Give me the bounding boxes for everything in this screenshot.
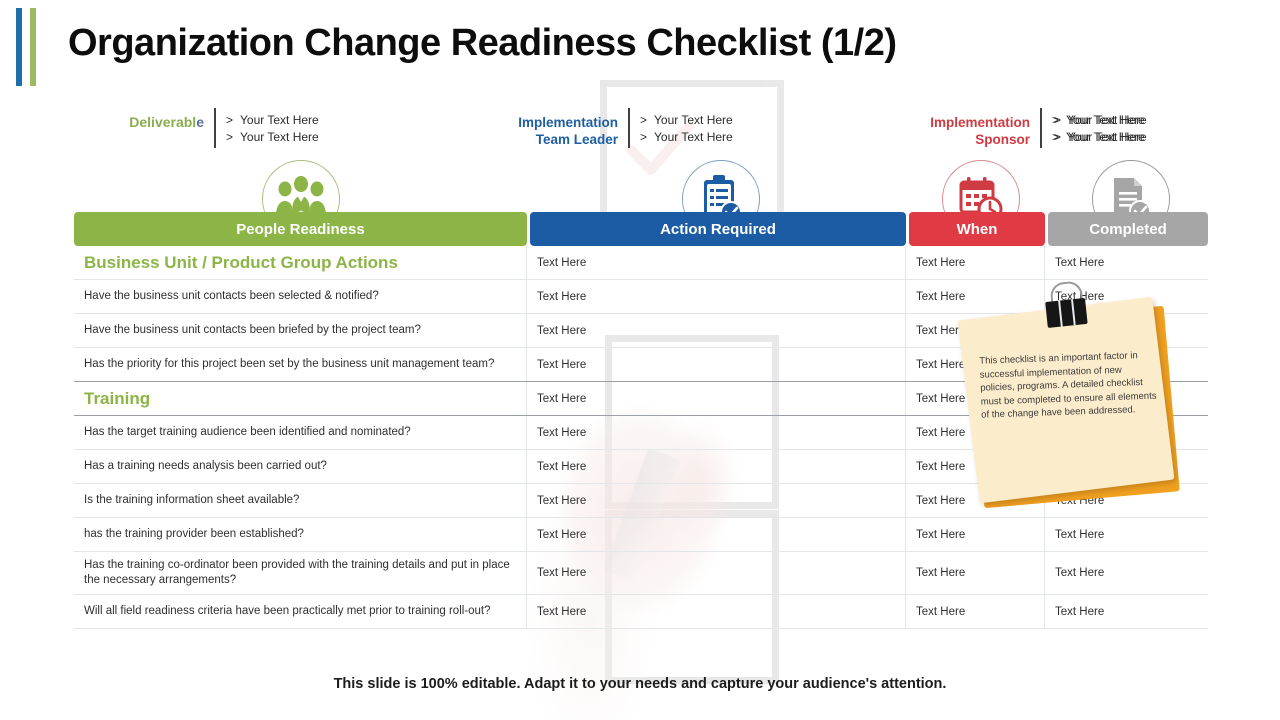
table-row: Has the training co-ordinator been provi… xyxy=(74,552,1208,595)
cell-completed[interactable]: Text Here xyxy=(1045,518,1208,551)
cell-action-required[interactable]: Text Here xyxy=(527,518,906,551)
row-question: Has the training co-ordinator been provi… xyxy=(74,552,527,594)
table-section-row: Business Unit / Product Group ActionsTex… xyxy=(74,246,1208,280)
bullet-text: Your Text Here xyxy=(1068,113,1147,127)
cell-when[interactable]: Text Here xyxy=(906,595,1045,628)
bullet-item: >Your Text Here xyxy=(1054,129,1147,146)
role-block-team-leader: Implementation Team Leader >Your Text He… xyxy=(470,108,733,148)
row-question: Will all field readiness criteria have b… xyxy=(74,595,527,628)
role-title-deliverable-tail: e xyxy=(196,114,204,130)
cell-when[interactable]: Text Here xyxy=(906,246,1045,279)
cell-action-required[interactable]: Text Here xyxy=(527,246,906,279)
bullet-marker: > xyxy=(226,112,240,129)
table-row: has the training provider been establish… xyxy=(74,518,1208,552)
cell-action-required[interactable]: Text Here xyxy=(527,280,906,313)
role-block-deliverable: Deliverable >Your Text Here >Your Text H… xyxy=(108,108,319,148)
bullet-item: >Your Text Here xyxy=(640,129,733,146)
cell-completed[interactable]: Text Here xyxy=(1045,246,1208,279)
role-title-deliverable: Deliverable xyxy=(108,108,204,131)
accent-bar-green xyxy=(30,8,36,86)
row-question: Has the target training audience been id… xyxy=(74,416,527,449)
cell-action-required[interactable]: Text Here xyxy=(527,416,906,449)
binder-clip-body xyxy=(1045,298,1087,328)
cell-when[interactable]: Text Here xyxy=(906,518,1045,551)
role-bullets-deliverable: >Your Text Here >Your Text Here xyxy=(226,108,319,146)
role-bullets-team-leader: >Your Text Here >Your Text Here xyxy=(640,108,733,146)
table-row: Will all field readiness criteria have b… xyxy=(74,595,1208,629)
role-title-team-leader: Implementation Team Leader xyxy=(470,108,618,148)
sticky-note-paper: This checklist is an important factor in… xyxy=(958,297,1175,504)
bullet-text: Your Text Here xyxy=(654,130,733,144)
footer-note: This slide is 100% editable. Adapt it to… xyxy=(0,676,1280,692)
role-divider-deliverable xyxy=(214,108,216,148)
cell-action-required[interactable]: Text Here xyxy=(527,314,906,347)
cell-action-required[interactable]: Text Here xyxy=(527,348,906,381)
cell-action-required[interactable]: Text Here xyxy=(527,552,906,594)
bullet-marker: > xyxy=(640,129,654,146)
row-question: Have the business unit contacts been bri… xyxy=(74,314,527,347)
slide-canvas: Organization Change Readiness Checklist … xyxy=(0,0,1280,720)
section-label: Business Unit / Product Group Actions xyxy=(74,246,527,279)
column-header-people-readiness: People Readiness xyxy=(74,212,527,246)
table-header-row: People Readiness Action Required When Co… xyxy=(74,212,1208,246)
cell-action-required[interactable]: Text Here xyxy=(527,382,906,415)
row-question: Have the business unit contacts been sel… xyxy=(74,280,527,313)
column-header-when: When xyxy=(909,212,1045,246)
bullet-text: Your Text Here xyxy=(654,113,733,127)
role-divider-team-leader xyxy=(628,108,630,148)
binder-clip-icon xyxy=(1036,289,1095,329)
row-question: has the training provider been establish… xyxy=(74,518,527,551)
column-header-completed: Completed xyxy=(1048,212,1208,246)
role-block-completed: >Your Text Here >Your Text Here xyxy=(1040,108,1147,146)
cell-completed[interactable]: Text Here xyxy=(1045,595,1208,628)
page-title: Organization Change Readiness Checklist … xyxy=(68,16,1218,70)
bullet-item: >Your Text Here xyxy=(1054,112,1147,129)
role-title-line2: Sponsor xyxy=(880,131,1030,148)
role-title-sponsor: Implementation Sponsor xyxy=(880,108,1030,148)
cell-completed[interactable]: Text Here xyxy=(1045,552,1208,594)
accent-bar-blue xyxy=(16,8,22,86)
section-label: Training xyxy=(74,382,527,415)
row-question: Has the priority for this project been s… xyxy=(74,348,527,381)
bullet-text: Your Text Here xyxy=(1068,130,1147,144)
bullet-marker: > xyxy=(640,112,654,129)
sticky-note-text: This checklist is an important factor in… xyxy=(979,349,1157,423)
role-title-line2: Team Leader xyxy=(470,131,618,148)
cell-action-required[interactable]: Text Here xyxy=(527,484,906,517)
role-title-deliverable-main: Deliverabl xyxy=(129,114,196,130)
row-question: Is the training information sheet availa… xyxy=(74,484,527,517)
bullet-text: Your Text Here xyxy=(240,130,319,144)
cell-when[interactable]: Text Here xyxy=(906,552,1045,594)
bullet-marker: > xyxy=(1054,129,1068,146)
role-bullets-completed: >Your Text Here >Your Text Here xyxy=(1040,108,1147,146)
bullet-item: >Your Text Here xyxy=(226,129,319,146)
column-header-action-required: Action Required xyxy=(530,212,906,246)
sticky-note: This checklist is an important factor in… xyxy=(962,300,1194,518)
cell-action-required[interactable]: Text Here xyxy=(527,450,906,483)
bullet-item: >Your Text Here xyxy=(226,112,319,129)
role-title-line1: Implementation xyxy=(880,114,1030,131)
role-title-line1: Implementation xyxy=(470,114,618,131)
bullet-marker: > xyxy=(1054,112,1068,129)
bullet-text: Your Text Here xyxy=(240,113,319,127)
bullet-item: >Your Text Here xyxy=(640,112,733,129)
bullet-marker: > xyxy=(226,129,240,146)
row-question: Has a training needs analysis been carri… xyxy=(74,450,527,483)
cell-action-required[interactable]: Text Here xyxy=(527,595,906,628)
